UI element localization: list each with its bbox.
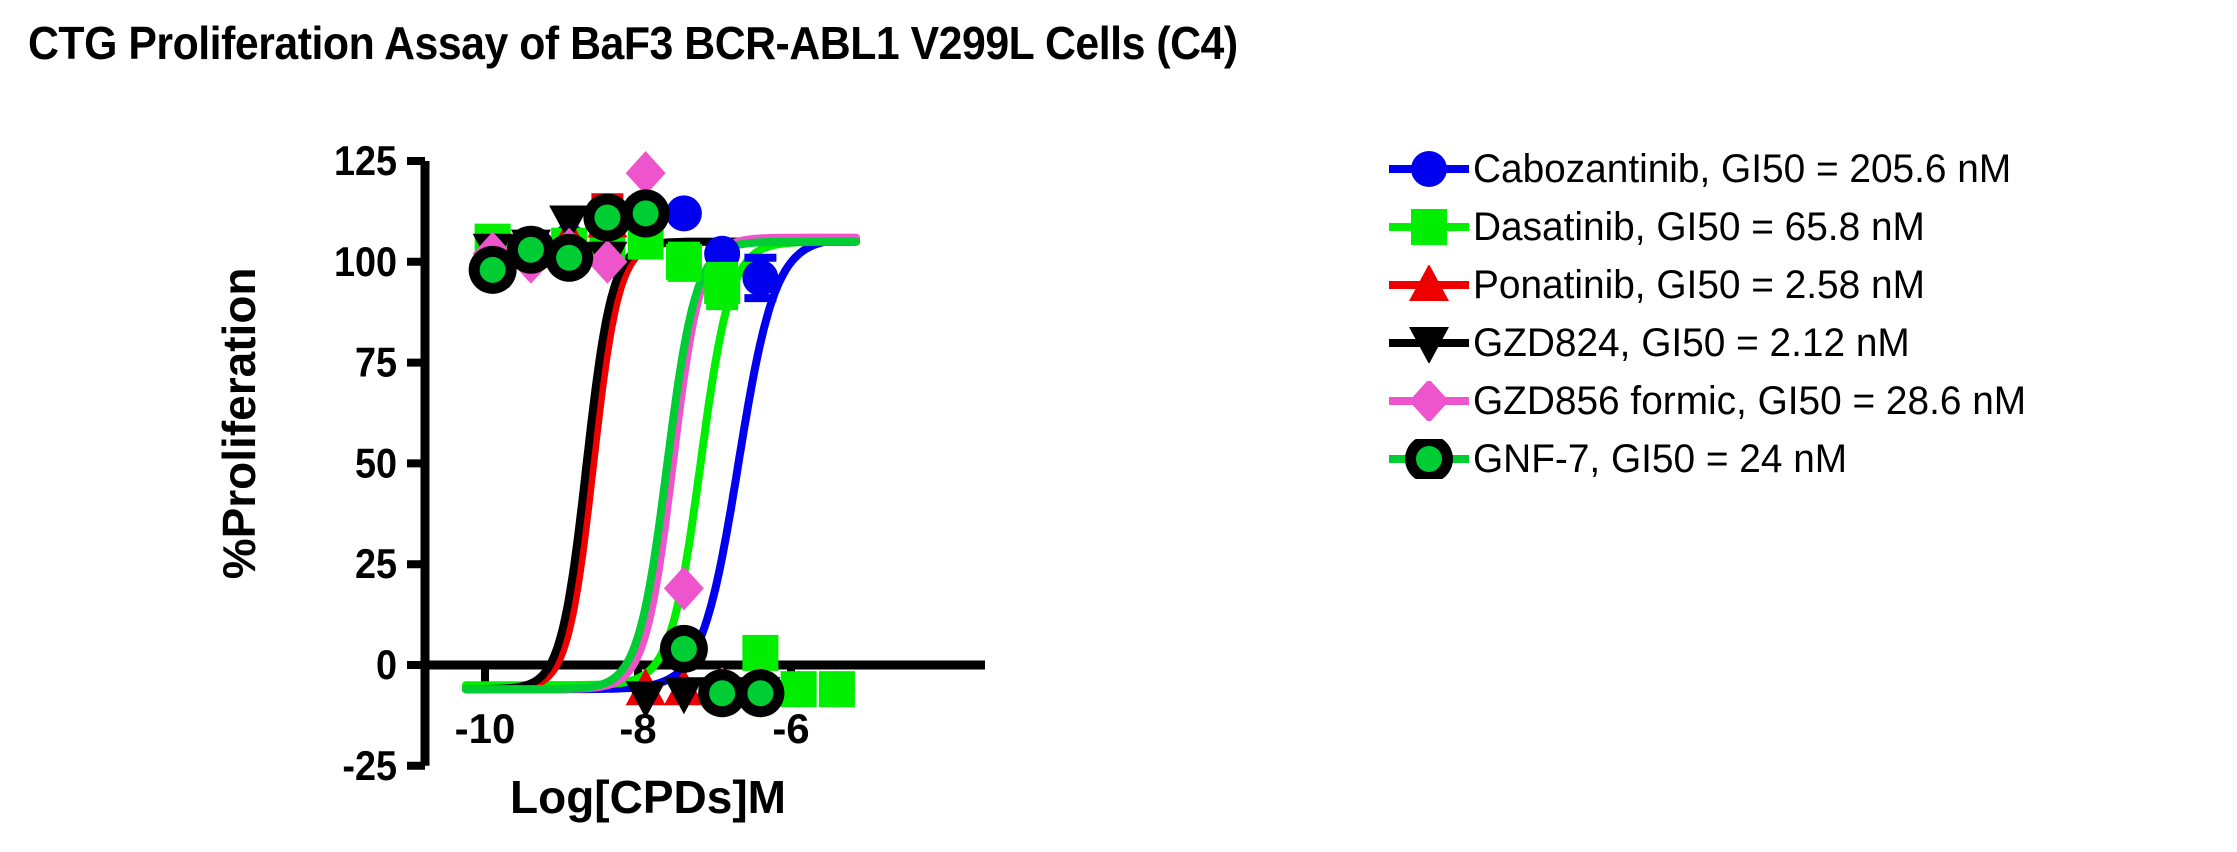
legend-label: GZD856 formic, GI50 = 28.6 nM [1473, 381, 2026, 421]
data-point-inner [556, 245, 582, 271]
legend-marker-gzd824 [1385, 323, 1473, 363]
curve-gnf-7 [466, 242, 856, 690]
data-point [626, 151, 666, 195]
data-point [664, 566, 704, 610]
curve-dasatinib [466, 242, 856, 686]
curve-cabozantinib [466, 238, 856, 689]
data-point-inner [747, 680, 773, 706]
legend-label: GZD824, GI50 = 2.12 nM [1473, 323, 1910, 363]
chart-legend: Cabozantinib, GI50 = 205.6 nM Dasatinib,… [1385, 140, 2225, 488]
chart-root: CTG Proliferation Assay of BaF3 BCR-ABL1… [0, 0, 2237, 852]
legend-item[interactable]: Ponatinib, GI50 = 2.58 nM [1385, 256, 2225, 314]
data-point [781, 671, 817, 707]
legend-item[interactable]: GNF-7, GI50 = 24 nM [1385, 430, 2225, 488]
data-point-inner [709, 680, 735, 706]
data-point [666, 195, 702, 231]
y-tick-label: 0 [376, 642, 397, 688]
data-point-inner [633, 200, 659, 226]
curves [466, 238, 856, 690]
legend-marker-gnf7 [1385, 439, 1473, 479]
legend-marker-ponatinib [1385, 265, 1473, 305]
legend-marker-gnf7-icon [1385, 439, 1473, 479]
legend-item[interactable]: GZD856 formic, GI50 = 28.6 nM [1385, 372, 2225, 430]
y-tick-label: 100 [334, 239, 397, 285]
x-axis-title: Log[CPDs]M [510, 771, 786, 823]
legend-marker-dasatinib-icon [1385, 207, 1473, 247]
legend-marker-dasatinib [1385, 207, 1473, 247]
legend-item[interactable]: GZD824, GI50 = 2.12 nM [1385, 314, 2225, 372]
data-point [742, 635, 778, 671]
plot-svg: -250255075100125-10-8-6Log[CPDs]M%Prolif… [0, 0, 1000, 852]
data-point [819, 671, 855, 707]
legend-item[interactable]: Dasatinib, GI50 = 65.8 nM [1385, 198, 2225, 256]
data-point [1409, 381, 1449, 421]
data-point-inner [1416, 446, 1442, 472]
curve-gzd824 [466, 242, 856, 690]
data-point-inner [671, 636, 697, 662]
data-point-inner [480, 257, 506, 283]
legend-label: GNF-7, GI50 = 24 nM [1473, 439, 1847, 479]
y-tick-label: 50 [355, 441, 397, 487]
plot-area: -250255075100125-10-8-6Log[CPDs]M%Prolif… [0, 0, 1000, 852]
y-axis-title: %Proliferation [213, 267, 265, 579]
legend-marker-gzd856-icon [1385, 381, 1473, 421]
data-point-inner [518, 237, 544, 263]
legend-marker-gzd824-icon [1385, 323, 1473, 363]
data-point [1411, 151, 1447, 187]
y-tick-label: -25 [342, 743, 397, 789]
x-tick-label: -8 [619, 705, 656, 752]
data-point [666, 244, 702, 280]
legend-label: Dasatinib, GI50 = 65.8 nM [1473, 207, 1925, 247]
y-tick-label: 75 [355, 340, 397, 386]
legend-marker-cabozantinib [1385, 149, 1473, 189]
data-point [704, 268, 740, 304]
x-tick-label: -6 [772, 705, 809, 752]
curve-ponatinib [466, 242, 856, 690]
legend-label: Ponatinib, GI50 = 2.58 nM [1473, 265, 1925, 305]
legend-item[interactable]: Cabozantinib, GI50 = 205.6 nM [1385, 140, 2225, 198]
data-point [742, 260, 778, 296]
legend-marker-ponatinib-icon [1385, 265, 1473, 305]
legend-label: Cabozantinib, GI50 = 205.6 nM [1473, 149, 2011, 189]
legend-marker-cabozantinib-icon [1385, 149, 1473, 189]
y-tick-label: 25 [355, 541, 397, 587]
data-point [1411, 209, 1447, 245]
curve-gzd856-formic [466, 238, 856, 690]
data-point-inner [594, 204, 620, 230]
legend-marker-gzd856 [1385, 381, 1473, 421]
x-tick-label: -10 [455, 705, 516, 752]
y-tick-label: 125 [334, 138, 397, 184]
